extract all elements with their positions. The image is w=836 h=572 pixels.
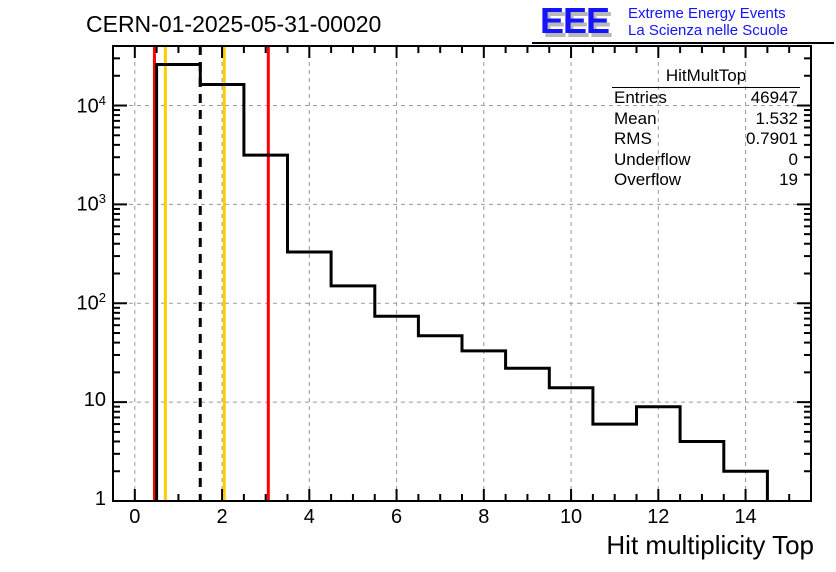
x-tick-label: 2 — [197, 506, 247, 529]
stats-row: Underflow0 — [608, 150, 804, 171]
x-axis-title: Hit multiplicity Top — [606, 530, 814, 561]
stats-row-key: Overflow — [614, 170, 681, 191]
x-tick-label: 8 — [459, 506, 509, 529]
stats-row-value: 46947 — [751, 88, 798, 109]
x-tick-label: 6 — [372, 506, 422, 529]
y-tick-label: 1 — [30, 488, 106, 511]
x-tick-label: 10 — [546, 506, 596, 529]
stats-row-value: 19 — [779, 170, 798, 191]
stats-row: Mean1.532 — [608, 109, 804, 130]
stats-row-key: RMS — [614, 129, 652, 150]
x-tick-label: 14 — [721, 506, 771, 529]
x-tick-label: 0 — [110, 506, 160, 529]
stats-row-key: Entries — [614, 88, 667, 109]
y-tick-label: 103 — [30, 191, 106, 217]
stats-row-value: 0.7901 — [746, 129, 798, 150]
stats-row: RMS0.7901 — [608, 129, 804, 150]
stats-box: HitMultTop Entries46947Mean1.532RMS0.790… — [608, 66, 804, 191]
stats-row-value: 1.532 — [755, 109, 798, 130]
stats-row-value: 0 — [789, 150, 798, 171]
stats-row-key: Underflow — [614, 150, 691, 171]
stats-row: Entries46947 — [608, 88, 804, 109]
stats-row-key: Mean — [614, 109, 657, 130]
y-tick-label: 10 — [30, 389, 106, 412]
y-tick-label: 102 — [30, 290, 106, 316]
x-tick-label: 12 — [633, 506, 683, 529]
stats-rows: Entries46947Mean1.532RMS0.7901Underflow0… — [608, 88, 804, 191]
stats-row: Overflow19 — [608, 170, 804, 191]
stats-title: HitMultTop — [612, 66, 800, 88]
y-tick-label: 104 — [30, 93, 106, 119]
root-canvas: CERN-01-2025-05-31-00020 EEE EEE Extreme… — [0, 0, 836, 572]
x-tick-label: 4 — [284, 506, 334, 529]
